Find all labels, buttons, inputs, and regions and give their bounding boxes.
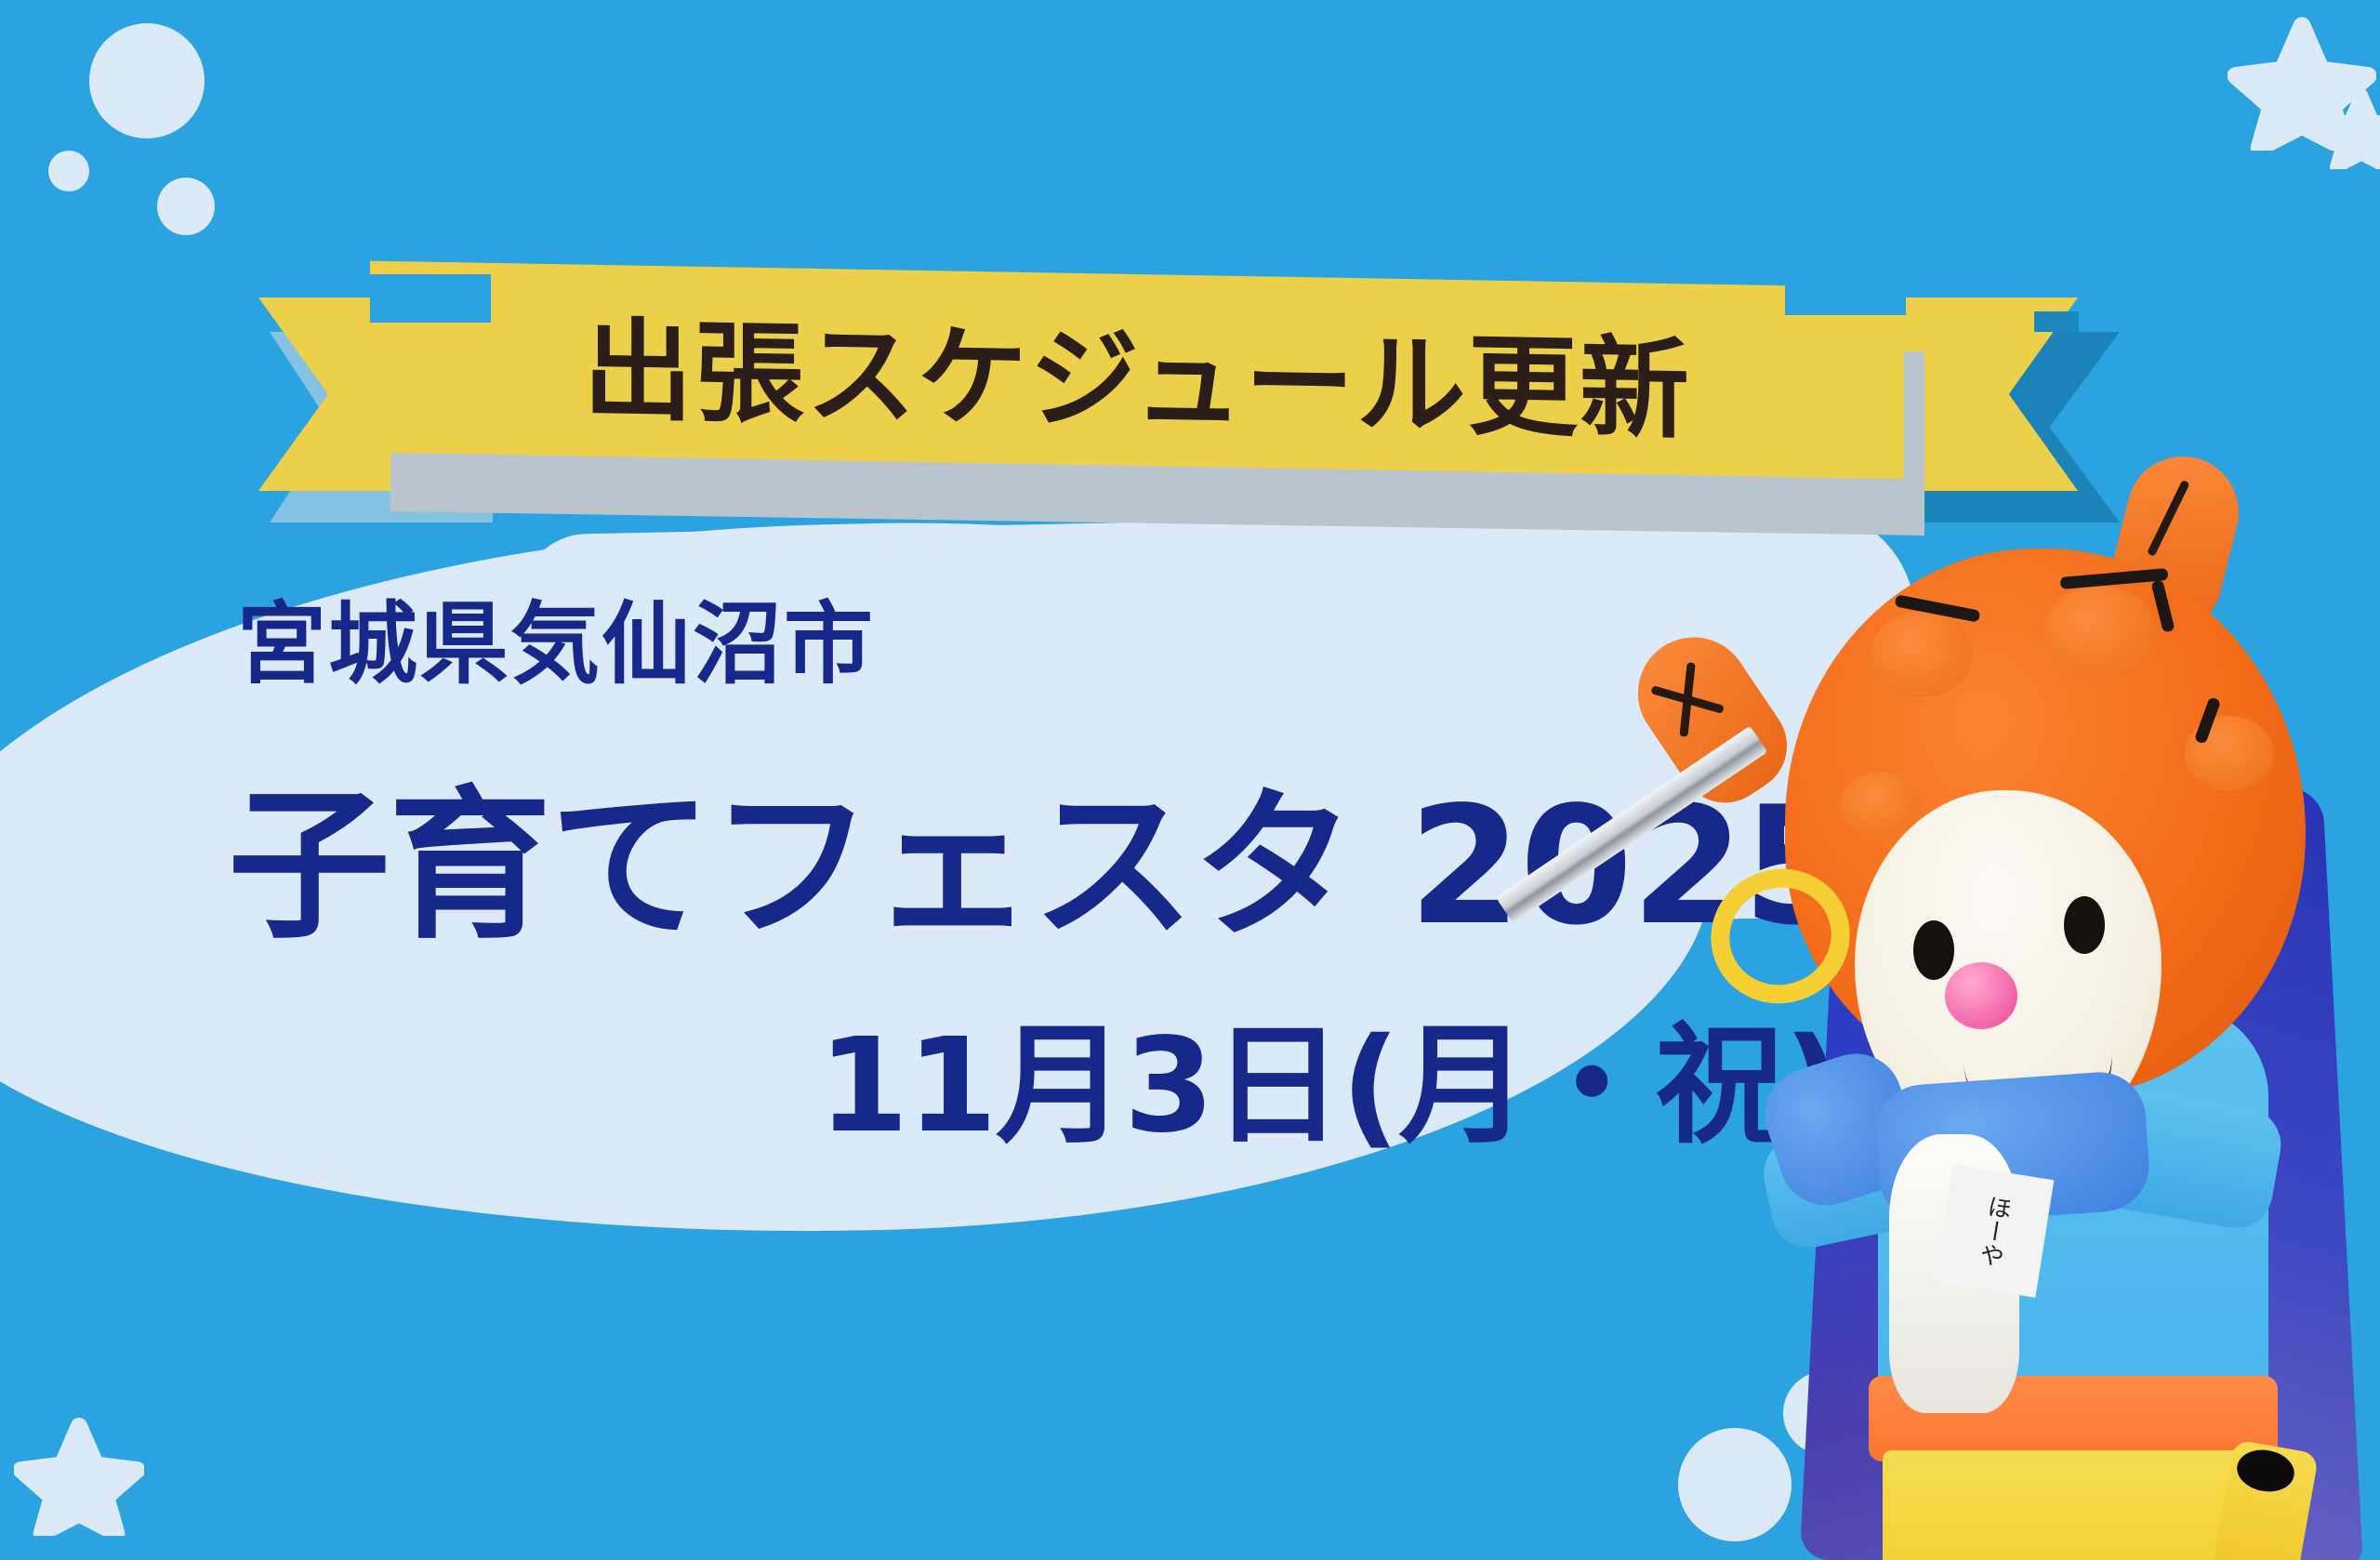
mascot-eye-right [2064,896,2105,954]
star-small-top-right-icon [2317,86,2380,169]
star-bottom-left-icon [14,1413,144,1536]
mascot-nose [1945,962,2017,1029]
prefecture-city-label: 宮城県気仙沼市 [237,572,875,701]
mascot-pants [1883,1450,2259,1560]
mascot-sword-tag: ほーや [1935,1164,2055,1298]
bubble-small-top-left [48,151,89,192]
bubble-medium-top-left [157,178,215,235]
poster-canvas: 出張スケジュール更新 宮城県気仙沼市 子育てフェスタ 2025 11月3日(月・… [0,0,2380,1560]
mascot-eye-left [1913,920,1954,980]
bubble-large-top-left [89,23,205,139]
ribbon-label: 出張スケジュール更新 [370,261,1904,480]
ribbon-right-notch-secondary [2034,311,2079,332]
mascot-character: ほーや [1599,483,2380,1560]
